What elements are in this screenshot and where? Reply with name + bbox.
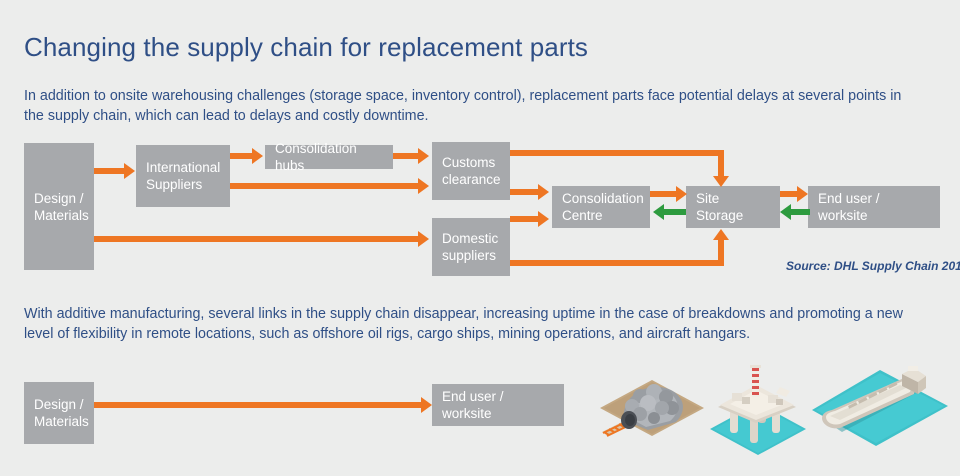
arrowhead-left-icon <box>653 204 664 220</box>
arrowhead-right-icon <box>676 186 687 202</box>
node-label: International Suppliers <box>146 159 220 193</box>
node-label: End user / worksite <box>818 190 930 224</box>
node-label: Consolidation hubs <box>275 140 383 174</box>
mining-operation-illustration <box>596 372 708 458</box>
node-international-suppliers[interactable]: International Suppliers <box>136 145 230 207</box>
slide-canvas: Changing the supply chain for replacemen… <box>0 0 960 476</box>
node-design-materials-additive[interactable]: Design / Materials <box>24 382 94 444</box>
flow-centre-to-sitestorage <box>650 191 676 197</box>
node-label: Consolidation Centre <box>562 190 644 224</box>
node-design-materials[interactable]: Design / Materials <box>24 143 94 270</box>
node-label: End user / worksite <box>442 388 554 422</box>
flow-domestic-to-sitestorage-horizontal <box>510 260 724 266</box>
flow-design-to-domestic <box>94 236 418 242</box>
offshore-oil-rig-illustration <box>706 365 810 461</box>
flow-domestic-to-sitestorage-vertical <box>718 240 724 266</box>
additive-paragraph: With additive manufacturing, several lin… <box>24 304 904 344</box>
node-domestic-suppliers[interactable]: Domestic suppliers <box>432 218 510 276</box>
node-consolidation-hubs[interactable]: Consolidation hubs <box>265 145 393 169</box>
node-label: Customs clearance <box>442 154 501 188</box>
arrowhead-down-icon <box>713 176 729 187</box>
intro-paragraph: In addition to onsite warehousing challe… <box>24 86 904 126</box>
return-flow-sitestorage-to-centre <box>664 209 686 215</box>
node-end-user-worksite-additive[interactable]: End user / worksite <box>432 384 564 426</box>
flow-international-to-hubs <box>230 153 252 159</box>
arrowhead-right-icon <box>252 148 263 164</box>
arrowhead-right-icon <box>418 231 429 247</box>
arrowhead-right-icon <box>124 163 135 179</box>
node-end-user-worksite[interactable]: End user / worksite <box>808 186 940 228</box>
arrowhead-right-icon <box>538 184 549 200</box>
source-attribution: Source: DHL Supply Chain 2014 <box>786 259 960 273</box>
flow-customs-to-sitestorage-vertical <box>718 150 724 176</box>
flow-customs-to-sitestorage-horizontal <box>510 150 724 156</box>
arrowhead-right-icon <box>797 186 808 202</box>
arrowhead-left-icon <box>780 204 791 220</box>
arrowhead-right-icon <box>418 148 429 164</box>
flow-hubs-to-customs <box>393 153 418 159</box>
page-title: Changing the supply chain for replacemen… <box>24 32 588 63</box>
flow-sitestorage-to-enduser <box>780 191 798 197</box>
flow-domestic-to-centre <box>510 216 538 222</box>
flow-customs-to-centre <box>510 189 538 195</box>
flow-design-to-enduser-additive <box>94 402 422 408</box>
node-customs-clearance[interactable]: Customs clearance <box>432 142 510 200</box>
flow-international-to-customs <box>230 183 418 189</box>
return-flow-enduser-to-sitestorage <box>791 209 810 215</box>
arrowhead-right-icon <box>538 211 549 227</box>
node-site-storage[interactable]: Site Storage <box>686 186 780 228</box>
node-label: Site Storage <box>696 190 770 224</box>
node-consolidation-centre[interactable]: Consolidation Centre <box>552 186 650 228</box>
node-label: Domestic suppliers <box>442 230 498 264</box>
arrowhead-right-icon <box>418 178 429 194</box>
cargo-ship-illustration <box>806 366 952 458</box>
node-label: Design / Materials <box>34 396 89 430</box>
flow-design-to-international <box>94 168 124 174</box>
tunnel-hole <box>625 414 635 426</box>
node-label: Design / Materials <box>34 190 89 224</box>
arrowhead-right-icon <box>421 397 432 413</box>
arrowhead-up-icon <box>713 229 729 240</box>
